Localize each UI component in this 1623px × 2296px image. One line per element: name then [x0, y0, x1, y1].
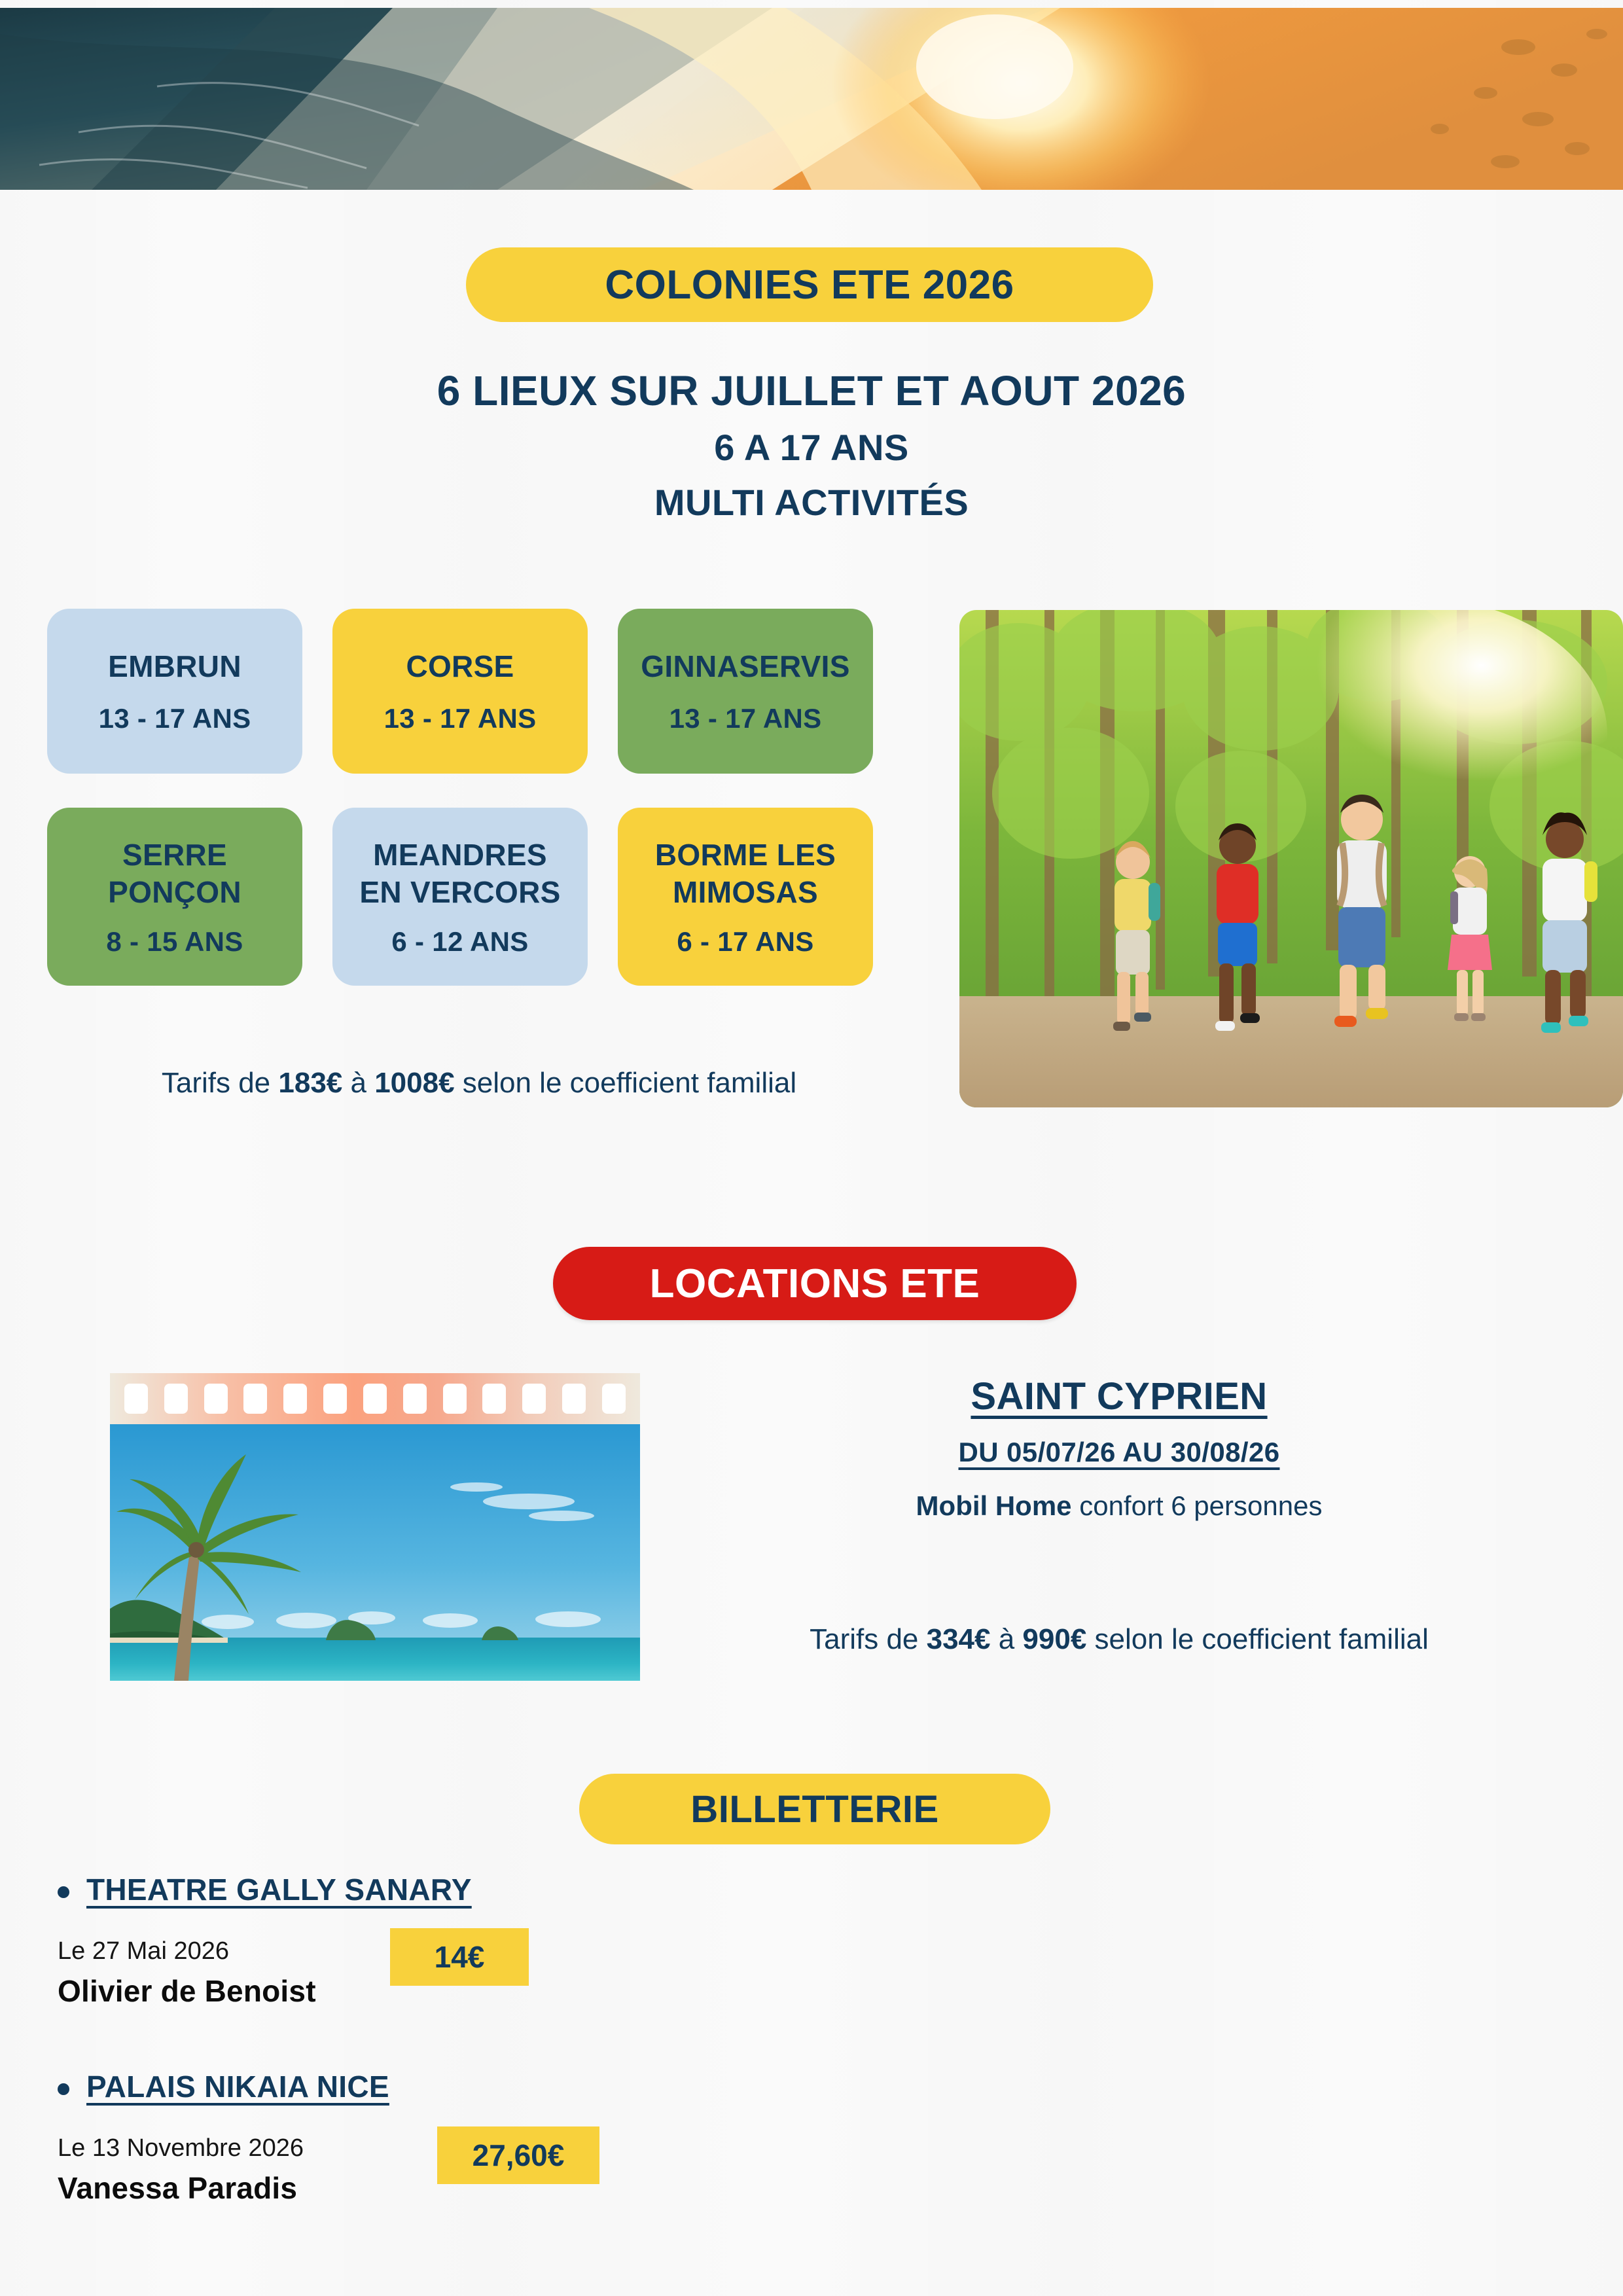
- destination-card[interactable]: EMBRUN 13 - 17 ANS: [47, 609, 302, 774]
- location-description-bold: Mobil Home: [916, 1490, 1072, 1521]
- location-tarifs-line: Tarifs de 334€ à 990€ selon le coefficie…: [654, 1623, 1584, 1656]
- event-item: Le 27 Mai 2026 Olivier de Benoist 14€: [58, 1933, 707, 2009]
- palm-beach-photo: [110, 1424, 640, 1681]
- event-name: Olivier de Benoist: [58, 1973, 707, 2009]
- bullet-icon: [58, 1886, 69, 1898]
- loc-tarifs-max: 990€: [1022, 1623, 1086, 1655]
- destination-age: 13 - 17 ANS: [384, 703, 537, 734]
- film-perforation-icon: [562, 1384, 586, 1414]
- film-perforation-icon: [124, 1384, 148, 1414]
- price-tag: 14€: [390, 1928, 529, 1986]
- destination-card[interactable]: GINNASERVIS 13 - 17 ANS: [618, 609, 873, 774]
- destination-name: BORME LESMIMOSAS: [655, 836, 836, 912]
- billetterie-badge: BILLETTERIE: [579, 1774, 1050, 1844]
- subtitle-line-2: 6 A 17 ANS: [0, 424, 1623, 472]
- film-perforation-icon: [164, 1384, 188, 1414]
- film-perforation-icon: [363, 1384, 387, 1414]
- destination-card[interactable]: CORSE 13 - 17 ANS: [332, 609, 588, 774]
- destination-card[interactable]: BORME LESMIMOSAS 6 - 17 ANS: [618, 808, 873, 986]
- colonies-badge: COLONIES ETE 2026: [466, 247, 1153, 322]
- destination-card[interactable]: SERREPONÇON 8 - 15 ANS: [47, 808, 302, 986]
- colonies-tarifs-line: Tarifs de 183€ à 1008€ selon le coeffici…: [47, 1067, 911, 1100]
- filmstrip-perforation-band: [110, 1373, 640, 1424]
- destination-card[interactable]: MEANDRESEN VERCORS 6 - 12 ANS: [332, 808, 588, 986]
- destination-cards: EMBRUN 13 - 17 ANS CORSE 13 - 17 ANS GIN…: [47, 609, 891, 986]
- film-perforation-icon: [482, 1384, 506, 1414]
- venue-name: PALAIS NIKAIA NICE: [86, 2069, 389, 2104]
- palm-beach-illustration: [110, 1424, 640, 1681]
- tropical-filmstrip-photo: [110, 1373, 640, 1681]
- tarifs-min: 183€: [278, 1067, 342, 1099]
- film-perforation-icon: [323, 1384, 347, 1414]
- locations-badge: LOCATIONS ETE: [553, 1247, 1077, 1320]
- venue-header[interactable]: PALAIS NIKAIA NICE: [58, 2069, 707, 2104]
- film-perforation-icon: [522, 1384, 546, 1414]
- film-perforation-icon: [403, 1384, 427, 1414]
- destination-name: MEANDRESEN VERCORS: [359, 836, 560, 912]
- tarifs-suffix: selon le coefficient familial: [455, 1067, 797, 1099]
- subtitle-line-3: MULTI ACTIVITÉS: [0, 479, 1623, 527]
- hero-beach-photo: [0, 8, 1623, 190]
- location-info: SAINT CYPRIEN DU 05/07/26 AU 30/08/26 Mo…: [687, 1374, 1551, 1522]
- header-subtitles: 6 LIEUX SUR JUILLET ET AOUT 2026 6 A 17 …: [0, 367, 1623, 527]
- venue-name: THEATRE GALLY SANARY: [86, 1872, 472, 1907]
- forest-illustration: [959, 610, 1623, 1107]
- bullet-icon: [58, 2083, 69, 2095]
- location-title: SAINT CYPRIEN: [687, 1374, 1551, 1418]
- film-perforation-icon: [204, 1384, 228, 1414]
- loc-tarifs-suffix: selon le coefficient familial: [1086, 1623, 1429, 1655]
- loc-tarifs-prefix: Tarifs de: [810, 1623, 927, 1655]
- film-perforation-icon: [243, 1384, 267, 1414]
- tarifs-max: 1008€: [374, 1067, 454, 1099]
- poster-page: COLONIES ETE 2026 6 LIEUX SUR JUILLET ET…: [0, 0, 1623, 2296]
- forest-children-photo: [959, 610, 1623, 1107]
- destination-age: 13 - 17 ANS: [669, 703, 822, 734]
- loc-tarifs-middle: à: [991, 1623, 1023, 1655]
- billetterie-right-column: RCT TOULON Le 25 ou 26 Avril 2026 RC Tou…: [707, 1872, 1623, 2296]
- event-name: Vanessa Paradis: [58, 2170, 707, 2206]
- film-perforation-icon: [443, 1384, 467, 1414]
- event-date: Le 27 Mai 2026: [58, 1933, 707, 1969]
- loc-tarifs-min: 334€: [927, 1623, 991, 1655]
- destination-age: 8 - 15 ANS: [106, 926, 243, 958]
- destination-age: 6 - 12 ANS: [391, 926, 528, 958]
- location-dates: DU 05/07/26 AU 30/08/26: [687, 1437, 1551, 1468]
- location-description-rest: confort 6 personnes: [1072, 1490, 1323, 1521]
- tarifs-prefix: Tarifs de: [162, 1067, 279, 1099]
- billetterie-section: THEATRE GALLY SANARY Le 27 Mai 2026 Oliv…: [0, 1872, 1623, 2296]
- venue-header[interactable]: THEATRE GALLY SANARY: [58, 1872, 707, 1907]
- event-date: Le 13 Novembre 2026: [58, 2130, 707, 2166]
- destination-name: CORSE: [406, 648, 514, 686]
- subtitle-line-1: 6 LIEUX SUR JUILLET ET AOUT 2026: [0, 367, 1623, 416]
- tarifs-middle: à: [342, 1067, 374, 1099]
- destination-name: SERREPONÇON: [108, 836, 241, 912]
- location-description: Mobil Home confort 6 personnes: [687, 1490, 1551, 1522]
- destination-age: 13 - 17 ANS: [99, 703, 251, 734]
- price-tag: 27,60€: [437, 2126, 599, 2184]
- event-item: Le 13 Novembre 2026 Vanessa Paradis 27,6…: [58, 2130, 707, 2206]
- destination-name: EMBRUN: [108, 648, 241, 686]
- film-perforation-icon: [602, 1384, 626, 1414]
- destination-name: GINNASERVIS: [641, 648, 849, 686]
- billetterie-left-column: THEATRE GALLY SANARY Le 27 Mai 2026 Oliv…: [0, 1872, 707, 2296]
- film-perforation-icon: [283, 1384, 307, 1414]
- destination-age: 6 - 17 ANS: [677, 926, 813, 958]
- beach-sunset-illustration: [0, 8, 1623, 190]
